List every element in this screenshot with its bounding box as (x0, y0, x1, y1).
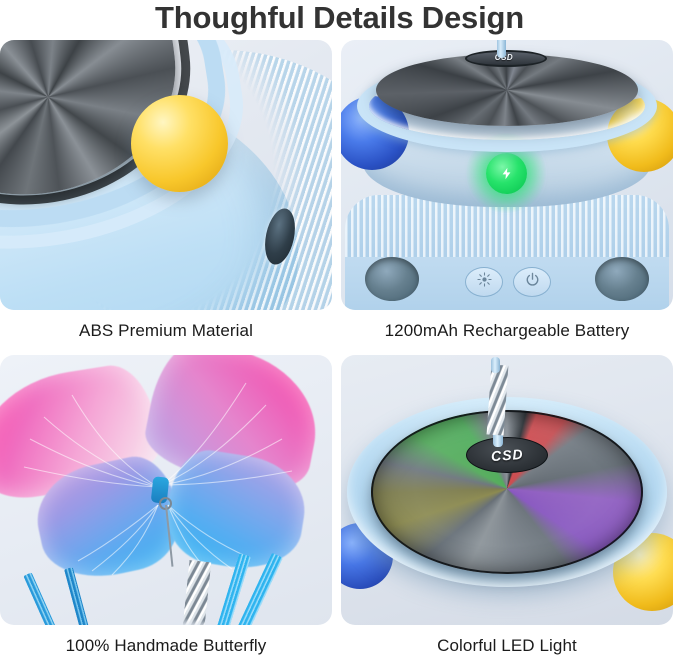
paw-hole-right (595, 257, 649, 301)
paw-hole-left (365, 257, 419, 301)
caption-handmade-butterfly: 100% Handmade Butterfly (0, 636, 332, 656)
charging-indicator (486, 153, 527, 194)
ribbon-streamer (64, 567, 93, 625)
feature-cell-colorful-led-light: CSD Colorful LED Light (341, 355, 673, 656)
power-button[interactable] (513, 267, 551, 297)
light-burst-icon (477, 272, 492, 292)
feature-cell-handmade-butterfly: 100% Handmade Butterfly (0, 355, 332, 656)
light-mode-button[interactable] (465, 267, 503, 297)
feature-cell-abs-premium-material: ABS Premium Material (0, 40, 332, 341)
wand-rod (497, 40, 506, 58)
caption-colorful-led-light: Colorful LED Light (341, 636, 673, 656)
product-image-handmade-butterfly (0, 355, 332, 625)
wand-rod-upper (491, 357, 500, 373)
feature-cell-rechargeable-battery: CSD 1200mAh Rechargeable Battery (341, 40, 673, 341)
product-image-colorful-led-light: CSD (341, 355, 673, 625)
led-turntable-edge (371, 410, 643, 574)
caption-rechargeable-battery: 1200mAh Rechargeable Battery (341, 321, 673, 341)
brand-logo: CSD (490, 446, 524, 464)
power-icon (525, 272, 540, 292)
ribbon-streamer (23, 572, 61, 625)
product-image-rechargeable-battery: CSD (341, 40, 673, 310)
coil-spring (183, 560, 212, 625)
product-image-abs-premium-material (0, 40, 332, 310)
yellow-ball (131, 95, 228, 192)
page-title: Thoughful Details Design (0, 0, 679, 38)
lightning-bolt-icon (500, 163, 513, 184)
turntable-center-hub: CSD (466, 437, 548, 473)
caption-abs-premium-material: ABS Premium Material (0, 321, 332, 341)
feature-grid: ABS Premium Material (0, 40, 679, 662)
